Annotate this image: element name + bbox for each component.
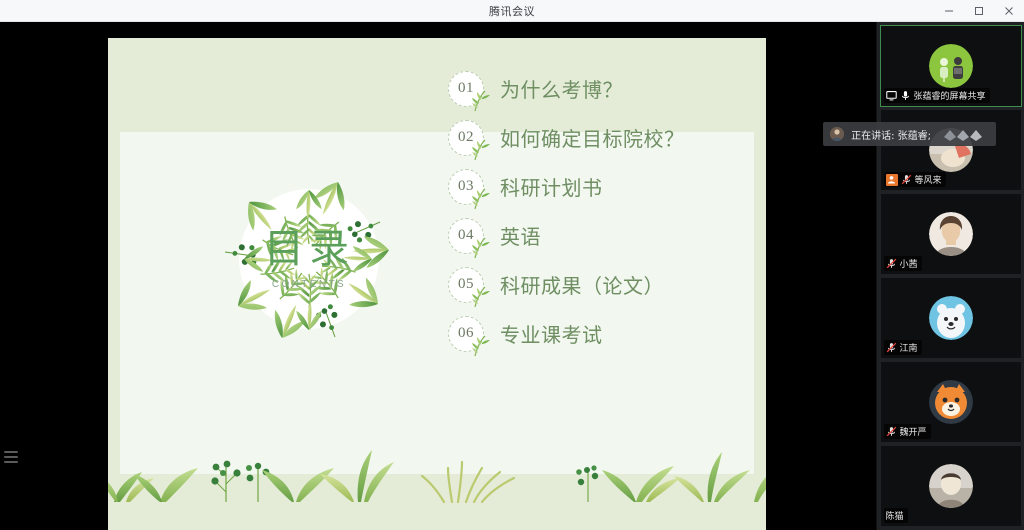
- contents-subtitle: CONTENTS: [272, 279, 346, 290]
- agenda-label: 科研成果（论文）: [500, 270, 664, 299]
- participant-tile[interactable]: 魏开严: [881, 362, 1021, 442]
- agenda-number-badge: 04: [448, 218, 484, 254]
- agenda-number-badge: 06: [448, 316, 484, 352]
- shared-screen-stage[interactable]: 目录 CONTENTS 01: [0, 22, 876, 530]
- cartoon-avatar-icon: [929, 296, 973, 340]
- avatar: [929, 296, 973, 340]
- contents-wreath: 目录 CONTENTS: [204, 154, 414, 364]
- shared-screen-canvas: 目录 CONTENTS 01: [0, 22, 876, 530]
- agenda-number-badge: 01: [448, 71, 484, 107]
- agenda-item: 04 英语: [448, 211, 738, 260]
- microphone-muted-icon: [886, 426, 897, 437]
- agenda-number-badge: 05: [448, 267, 484, 303]
- participant-label: 江南: [884, 340, 922, 355]
- audio-wave-icon: [942, 126, 986, 142]
- avatar: [929, 464, 973, 508]
- host-person-icon: [887, 175, 896, 184]
- participant-rail[interactable]: 张蕴睿的屏幕共享: [876, 22, 1024, 530]
- agenda-item: 06 专业课考试: [448, 309, 738, 358]
- participant-label: 魏开严: [884, 424, 931, 439]
- agenda-item: 03 科研计划书: [448, 162, 738, 211]
- window-controls: [934, 0, 1024, 22]
- maximize-button[interactable]: [964, 0, 994, 22]
- minimize-icon: [944, 6, 954, 16]
- agenda-number-badge: 03: [448, 169, 484, 205]
- window-title: 腾讯会议: [489, 3, 535, 19]
- close-icon: [1004, 6, 1014, 16]
- participant-label: 等风来: [884, 172, 946, 187]
- participant-tile[interactable]: 小茜: [881, 194, 1021, 274]
- participant-label: 陈猫: [884, 508, 908, 523]
- avatar-icon: [830, 127, 844, 141]
- agenda-label: 如何确定目标院校？: [500, 123, 685, 152]
- photo-avatar-icon: [929, 464, 973, 508]
- avatar: [929, 44, 973, 88]
- participant-label: 小茜: [884, 256, 922, 271]
- avatar: [929, 212, 973, 256]
- participant-tile[interactable]: 陈猫: [881, 446, 1021, 526]
- microphone-icon: [900, 90, 911, 101]
- share-avatar-icon: [929, 44, 973, 88]
- avatar: [929, 380, 973, 424]
- contents-title: 目录: [264, 229, 354, 269]
- speaking-text: 正在讲话: 张蕴睿;: [851, 127, 931, 142]
- speaking-indicator: 正在讲话: 张蕴睿;: [823, 122, 996, 146]
- speaker-avatar: [830, 127, 844, 141]
- photo-avatar-icon: [929, 212, 973, 256]
- close-button[interactable]: [994, 0, 1024, 22]
- participant-name: 魏开严: [900, 425, 927, 438]
- sprig-icon: [471, 188, 491, 210]
- sprig-icon: [471, 335, 491, 357]
- microphone-muted-icon: [886, 258, 897, 269]
- participant-name: 小茜: [900, 257, 918, 270]
- participant-name: 张蕴睿的屏幕共享: [914, 89, 986, 102]
- participant-name: 陈猫: [886, 509, 904, 522]
- cartoon-avatar-icon: [929, 380, 973, 424]
- microphone-muted-icon: [886, 342, 897, 353]
- wreath-center-text: 目录 CONTENTS: [204, 154, 414, 364]
- sprig-icon: [471, 90, 491, 112]
- sprig-icon: [471, 139, 491, 161]
- agenda-label: 专业课考试: [500, 319, 603, 348]
- participant-tile[interactable]: 张蕴睿的屏幕共享: [881, 26, 1021, 106]
- microphone-muted-icon: [901, 174, 912, 185]
- tencent-meeting-window: 腾讯会议: [0, 0, 1024, 530]
- agenda-item: 05 科研成果（论文）: [448, 260, 738, 309]
- sprig-icon: [471, 286, 491, 308]
- agenda-item: 02 如何确定目标院校？: [448, 113, 738, 162]
- minimize-button[interactable]: [934, 0, 964, 22]
- agenda-number-badge: 02: [448, 120, 484, 156]
- screen-share-icon: [886, 90, 897, 101]
- participant-name: 江南: [900, 341, 918, 354]
- presentation-slide: 目录 CONTENTS 01: [108, 38, 766, 530]
- window-titlebar: 腾讯会议: [0, 0, 1024, 22]
- agenda-label: 为什么考博？: [500, 74, 623, 103]
- list-menu-icon[interactable]: [4, 451, 22, 467]
- maximize-icon: [974, 6, 984, 16]
- participant-name: 等风来: [915, 173, 942, 186]
- participant-tile[interactable]: 江南: [881, 278, 1021, 358]
- agenda-label: 英语: [500, 221, 541, 250]
- agenda-label: 科研计划书: [500, 172, 603, 201]
- host-badge: [886, 174, 898, 186]
- participant-label: 张蕴睿的屏幕共享: [884, 88, 990, 103]
- sprig-icon: [471, 237, 491, 259]
- agenda-item: 01 为什么考博？: [448, 64, 738, 113]
- agenda-list: 01 为什么考博？: [448, 64, 738, 358]
